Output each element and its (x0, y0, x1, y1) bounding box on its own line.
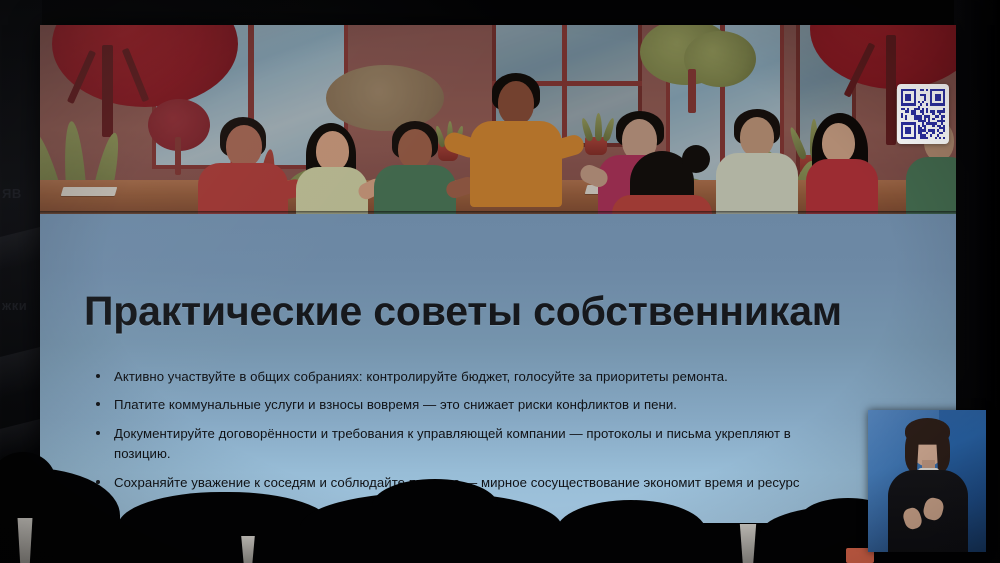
qr-code[interactable] (897, 84, 949, 144)
slide-text-panel: Практические советы собственникам Активн… (40, 214, 956, 523)
room-ghost-text: ЯВ (2, 186, 22, 201)
slide-bullet-list: Активно участвуйте в общих собраниях: ко… (92, 368, 922, 502)
wall-shrub (326, 65, 444, 131)
slide-title: Практические советы собственникам (84, 288, 842, 335)
list-item: Платите коммунальные услуги и взносы вов… (92, 396, 922, 413)
olive-tree-trunk (688, 69, 696, 113)
bullet-dot (96, 374, 100, 378)
red-tree-trunk (102, 45, 113, 137)
bullet-text: Активно участвуйте в общих собраниях: ко… (114, 369, 728, 384)
list-item: Документируйте договорённости и требован… (92, 425, 922, 463)
window-mullion (562, 25, 567, 147)
bullet-text-continuation: позицию. (114, 445, 922, 462)
table-paper (61, 187, 118, 196)
red-tree-trunk (886, 35, 896, 145)
qr-code-matrix (901, 89, 945, 139)
bullet-dot (96, 402, 100, 406)
audience-head (0, 452, 56, 512)
bullet-text: Документируйте договорённости и требован… (114, 426, 791, 441)
list-item: Активно участвуйте в общих собраниях: ко… (92, 368, 922, 385)
screenshot-stage: ЯВ жки (0, 0, 1000, 563)
list-item: Сохраняйте уважение к соседям и соблюдай… (92, 474, 922, 491)
bullet-text: Платите коммунальные услуги и взносы вов… (114, 397, 677, 412)
indoor-decor-trunk (175, 137, 181, 175)
audience-silhouette (556, 500, 706, 563)
slide-illustration (40, 25, 956, 214)
bullet-dot (96, 431, 100, 435)
projected-slide: Практические советы собственникам Активн… (40, 25, 956, 523)
audience-head (372, 479, 498, 533)
room-ghost-text: жки (2, 298, 27, 313)
sign-language-interpreter[interactable] (868, 410, 986, 552)
